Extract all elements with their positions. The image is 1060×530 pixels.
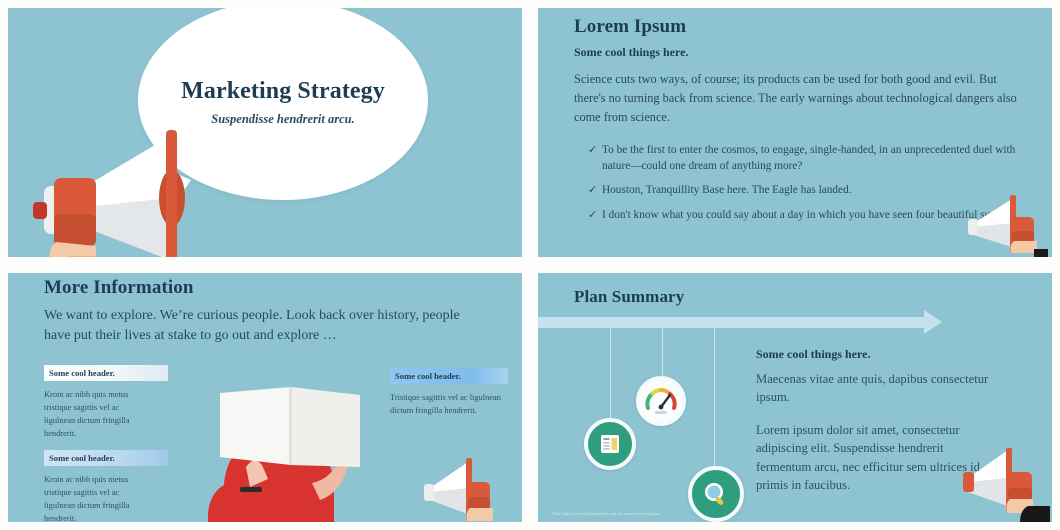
section-lead: Some cool things here. [756,347,870,362]
page-title: Lorem Ipsum [574,16,686,38]
check-icon: ✓ [588,183,597,198]
check-icon: ✓ [588,143,597,158]
slide-cell-4[interactable]: Plan Summary [530,265,1060,530]
more-information-slide[interactable]: More Information We want to explore. We’… [8,273,522,522]
slide-cell-3[interactable]: More Information We want to explore. We’… [0,265,530,530]
megaphone-icon [950,444,1050,522]
list-item-label: Houston, Tranquillity Base here. The Eag… [602,184,852,196]
lorem-ipsum-slide[interactable]: Lorem Ipsum Some cool things here. Scien… [538,8,1052,257]
page-title: Plan Summary [574,287,684,307]
megaphone-icon [414,456,506,522]
timeline-drop-line [714,328,715,470]
timeline-drop-line [610,328,611,420]
slide-cell-1[interactable]: Marketing Strategy Suspendisse hendrerit… [0,0,530,265]
timeline-marker-gauge[interactable] [636,376,686,426]
column-header: Some cool header. [44,365,168,381]
column-body: Kroin ac nibh quis metus tristique sagit… [44,473,152,522]
page-title: Marketing Strategy [138,78,428,104]
body-paragraph-1: Maecenas vitae ante quis, dapibus consec… [756,370,991,407]
timeline-marker-magnifier[interactable] [688,466,744,522]
list-item-label: I don't know what you could say about a … [602,209,1016,221]
column-header: Some cool header. [44,450,168,466]
timeline-arrow-bar [538,317,926,328]
plan-summary-slide[interactable]: Plan Summary [538,273,1052,522]
section-lead: We want to explore. We’re curious people… [44,306,474,346]
slide-cell-2[interactable]: Lorem Ipsum Some cool things here. Scien… [530,0,1060,265]
person-with-book-photo [194,375,392,522]
check-icon: ✓ [588,208,597,223]
timeline-marker-document[interactable] [584,418,636,470]
document-icon [600,434,620,454]
timeline-drop-line [662,328,663,380]
footer-note[interactable]: Visit https://www.slidetemplate.com for … [552,511,661,516]
column-body: Tristique sagittis vel ac ligulnean dict… [390,391,506,417]
timeline-arrow-head [924,310,942,334]
body-paragraph: Science cuts two ways, of course; its pr… [574,70,1030,127]
title-slide[interactable]: Marketing Strategy Suspendisse hendrerit… [8,8,522,257]
column-header: Some cool header. [390,368,508,384]
gauge-icon [644,385,678,417]
page-subtitle: Suspendisse hendrerit arcu. [138,112,428,127]
megaphone-icon [960,193,1048,257]
column-1: Some cool header. Kroin ac nibh quis met… [44,365,152,440]
slide-deck: Marketing Strategy Suspendisse hendrerit… [0,0,1060,530]
section-lead: Some cool things here. [574,45,688,60]
column-body: Kroin ac nibh quis metus tristique sagit… [44,388,152,440]
megaphone-icon [20,128,210,257]
column-3: Some cool header. Tristique sagittis vel… [390,368,506,417]
column-2: Some cool header. Kroin ac nibh quis met… [44,450,152,522]
list-item-label: To be the first to enter the cosmos, to … [602,144,1015,172]
page-title: More Information [44,277,194,299]
magnifier-icon [703,481,729,507]
list-item: ✓ To be the first to enter the cosmos, t… [588,143,1028,174]
